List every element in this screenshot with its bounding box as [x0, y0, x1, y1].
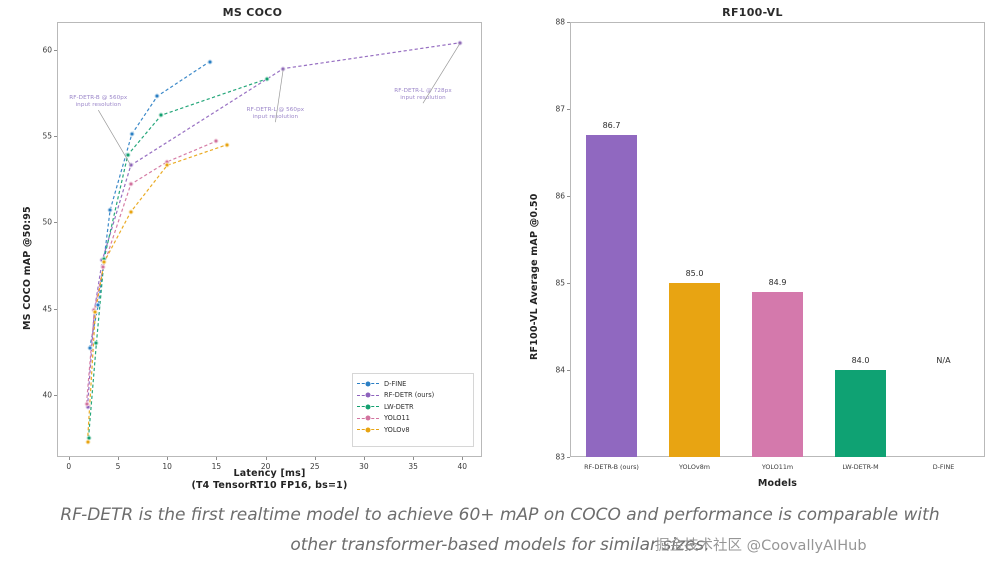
- bar-category-label: D-FINE: [933, 463, 955, 471]
- x-tick-mark: [69, 457, 70, 460]
- bar-2: [752, 292, 804, 457]
- legend-label: LW-DETR: [384, 403, 414, 411]
- legend-marker-dot: [366, 416, 371, 421]
- rf100vl-xaxis-title: Models: [570, 478, 985, 490]
- bar-category-label: LW-DETR-M: [842, 463, 878, 471]
- legend-swatch-icon: [357, 403, 379, 411]
- legend-marker-dot: [366, 404, 371, 409]
- ms-coco-yaxis-title: MS COCO mAP @50:95: [22, 206, 33, 330]
- y-tick-label: 87: [546, 105, 565, 114]
- y-tick-mark: [54, 136, 57, 137]
- y-tick-label: 85: [546, 279, 565, 288]
- annotation-line2: input resolution: [220, 114, 330, 121]
- y-tick-mark: [54, 309, 57, 310]
- data-point: [129, 132, 134, 137]
- data-point: [108, 208, 113, 213]
- y-tick-mark: [567, 196, 570, 197]
- data-point: [93, 310, 98, 315]
- y-tick-mark: [54, 50, 57, 51]
- data-point: [125, 152, 130, 157]
- y-tick-mark: [54, 395, 57, 396]
- data-point: [128, 163, 133, 168]
- data-point: [264, 77, 269, 82]
- data-point: [87, 346, 92, 351]
- y-tick-label: 86: [546, 192, 565, 201]
- ms-coco-xaxis-title: Latency [ms] (T4 TensorRT10 FP16, bs=1): [57, 468, 482, 492]
- annotation-line2: input resolution: [43, 102, 153, 109]
- legend-item-3: YOLO11: [357, 413, 467, 425]
- legend-label: RF-DETR (ours): [384, 391, 434, 399]
- bar-3: [835, 370, 887, 457]
- y-tick-mark: [567, 283, 570, 284]
- annotation-rf-detr-l-560: RF-DETR-L @ 560pxinput resolution: [220, 107, 330, 121]
- x-tick-mark: [315, 457, 316, 460]
- ms-coco-xaxis-line1: Latency [ms]: [234, 468, 306, 479]
- x-tick-mark: [118, 457, 119, 460]
- legend-swatch-icon: [357, 380, 379, 388]
- legend-item-0: D-FINE: [357, 378, 467, 390]
- bar-value-label: 86.7: [603, 121, 621, 130]
- legend-marker-dot: [366, 393, 371, 398]
- data-point: [458, 40, 463, 45]
- ms-coco-title: MS COCO: [0, 6, 505, 19]
- annotation-line1: RF-DETR-L @ 728px: [368, 88, 478, 95]
- data-point: [281, 66, 286, 71]
- figure-root: MS COCO 05101520253035404045505560 RF-DE…: [0, 0, 1000, 580]
- bar-value-label: 84.9: [769, 278, 787, 287]
- x-tick-mark: [364, 457, 365, 460]
- ms-coco-xaxis-line2: (T4 TensorRT10 FP16, bs=1): [191, 480, 347, 491]
- annotation-line1: RF-DETR-B @ 560px: [43, 95, 153, 102]
- rf100vl-title: RF100-VL: [505, 6, 1000, 19]
- data-point: [96, 303, 101, 308]
- y-tick-mark: [567, 457, 570, 458]
- rf100vl-yaxis-title: RF100-VL Average mAP @0.50: [529, 193, 540, 360]
- data-point: [214, 139, 219, 144]
- bar-value-label: 85.0: [686, 269, 704, 278]
- x-tick-mark: [462, 457, 463, 460]
- x-tick-mark: [167, 457, 168, 460]
- bar-category-label: RF-DETR-B (ours): [584, 463, 639, 471]
- annotation-line1: RF-DETR-L @ 560px: [220, 107, 330, 114]
- rf100vl-chart-panel: RF100-VL 838485868788 86.7RF-DETR-B (our…: [505, 0, 1000, 500]
- data-point: [101, 265, 106, 270]
- x-tick-mark: [216, 457, 217, 460]
- legend-swatch-icon: [357, 426, 379, 434]
- annotation-line2: input resolution: [368, 95, 478, 102]
- y-tick-label: 60: [33, 45, 52, 54]
- annotation-rf-detr-l-728: RF-DETR-L @ 728pxinput resolution: [368, 88, 478, 102]
- bar-value-label: N/A: [936, 356, 950, 365]
- legend-swatch-icon: [357, 391, 379, 399]
- y-tick-label: 45: [33, 304, 52, 313]
- legend-label: YOLO11: [384, 414, 410, 422]
- data-point: [207, 59, 212, 64]
- data-point: [155, 94, 160, 99]
- annotation-rf-detr-b-560: RF-DETR-B @ 560pxinput resolution: [43, 95, 153, 109]
- data-point: [128, 182, 133, 187]
- legend-label: D-FINE: [384, 380, 406, 388]
- ms-coco-chart-panel: MS COCO 05101520253035404045505560 RF-DE…: [0, 0, 505, 500]
- data-point: [85, 439, 90, 444]
- legend-item-2: LW-DETR: [357, 401, 467, 413]
- legend-marker-dot: [366, 381, 371, 386]
- y-tick-label: 55: [33, 131, 52, 140]
- y-tick-label: 88: [546, 18, 565, 27]
- legend-label: YOLOv8: [384, 426, 410, 434]
- bar-category-label: YOLO11m: [762, 463, 793, 471]
- watermark-text: 掘金技术社区 @CoovallyAIHub: [655, 534, 867, 555]
- bar-1: [669, 283, 721, 457]
- data-point: [94, 341, 99, 346]
- legend-marker-dot: [366, 427, 371, 432]
- data-point: [128, 209, 133, 214]
- y-tick-label: 50: [33, 218, 52, 227]
- y-tick-mark: [567, 370, 570, 371]
- ms-coco-legend: D-FINERF-DETR (ours)LW-DETRYOLO11YOLOv8: [352, 373, 474, 447]
- legend-swatch-icon: [357, 414, 379, 422]
- data-point: [165, 163, 170, 168]
- x-tick-mark: [266, 457, 267, 460]
- y-tick-label: 84: [546, 366, 565, 375]
- bar-value-label: 84.0: [852, 356, 870, 365]
- y-tick-mark: [567, 109, 570, 110]
- data-point: [159, 113, 164, 118]
- y-tick-label: 83: [546, 453, 565, 462]
- data-point: [102, 259, 107, 264]
- x-tick-mark: [413, 457, 414, 460]
- bar-0: [586, 135, 638, 457]
- data-point: [225, 142, 230, 147]
- y-tick-mark: [567, 22, 570, 23]
- y-tick-mark: [54, 222, 57, 223]
- legend-item-4: YOLOv8: [357, 424, 467, 436]
- data-point: [84, 401, 89, 406]
- bar-category-label: YOLOv8m: [679, 463, 710, 471]
- legend-item-1: RF-DETR (ours): [357, 390, 467, 402]
- y-tick-label: 40: [33, 390, 52, 399]
